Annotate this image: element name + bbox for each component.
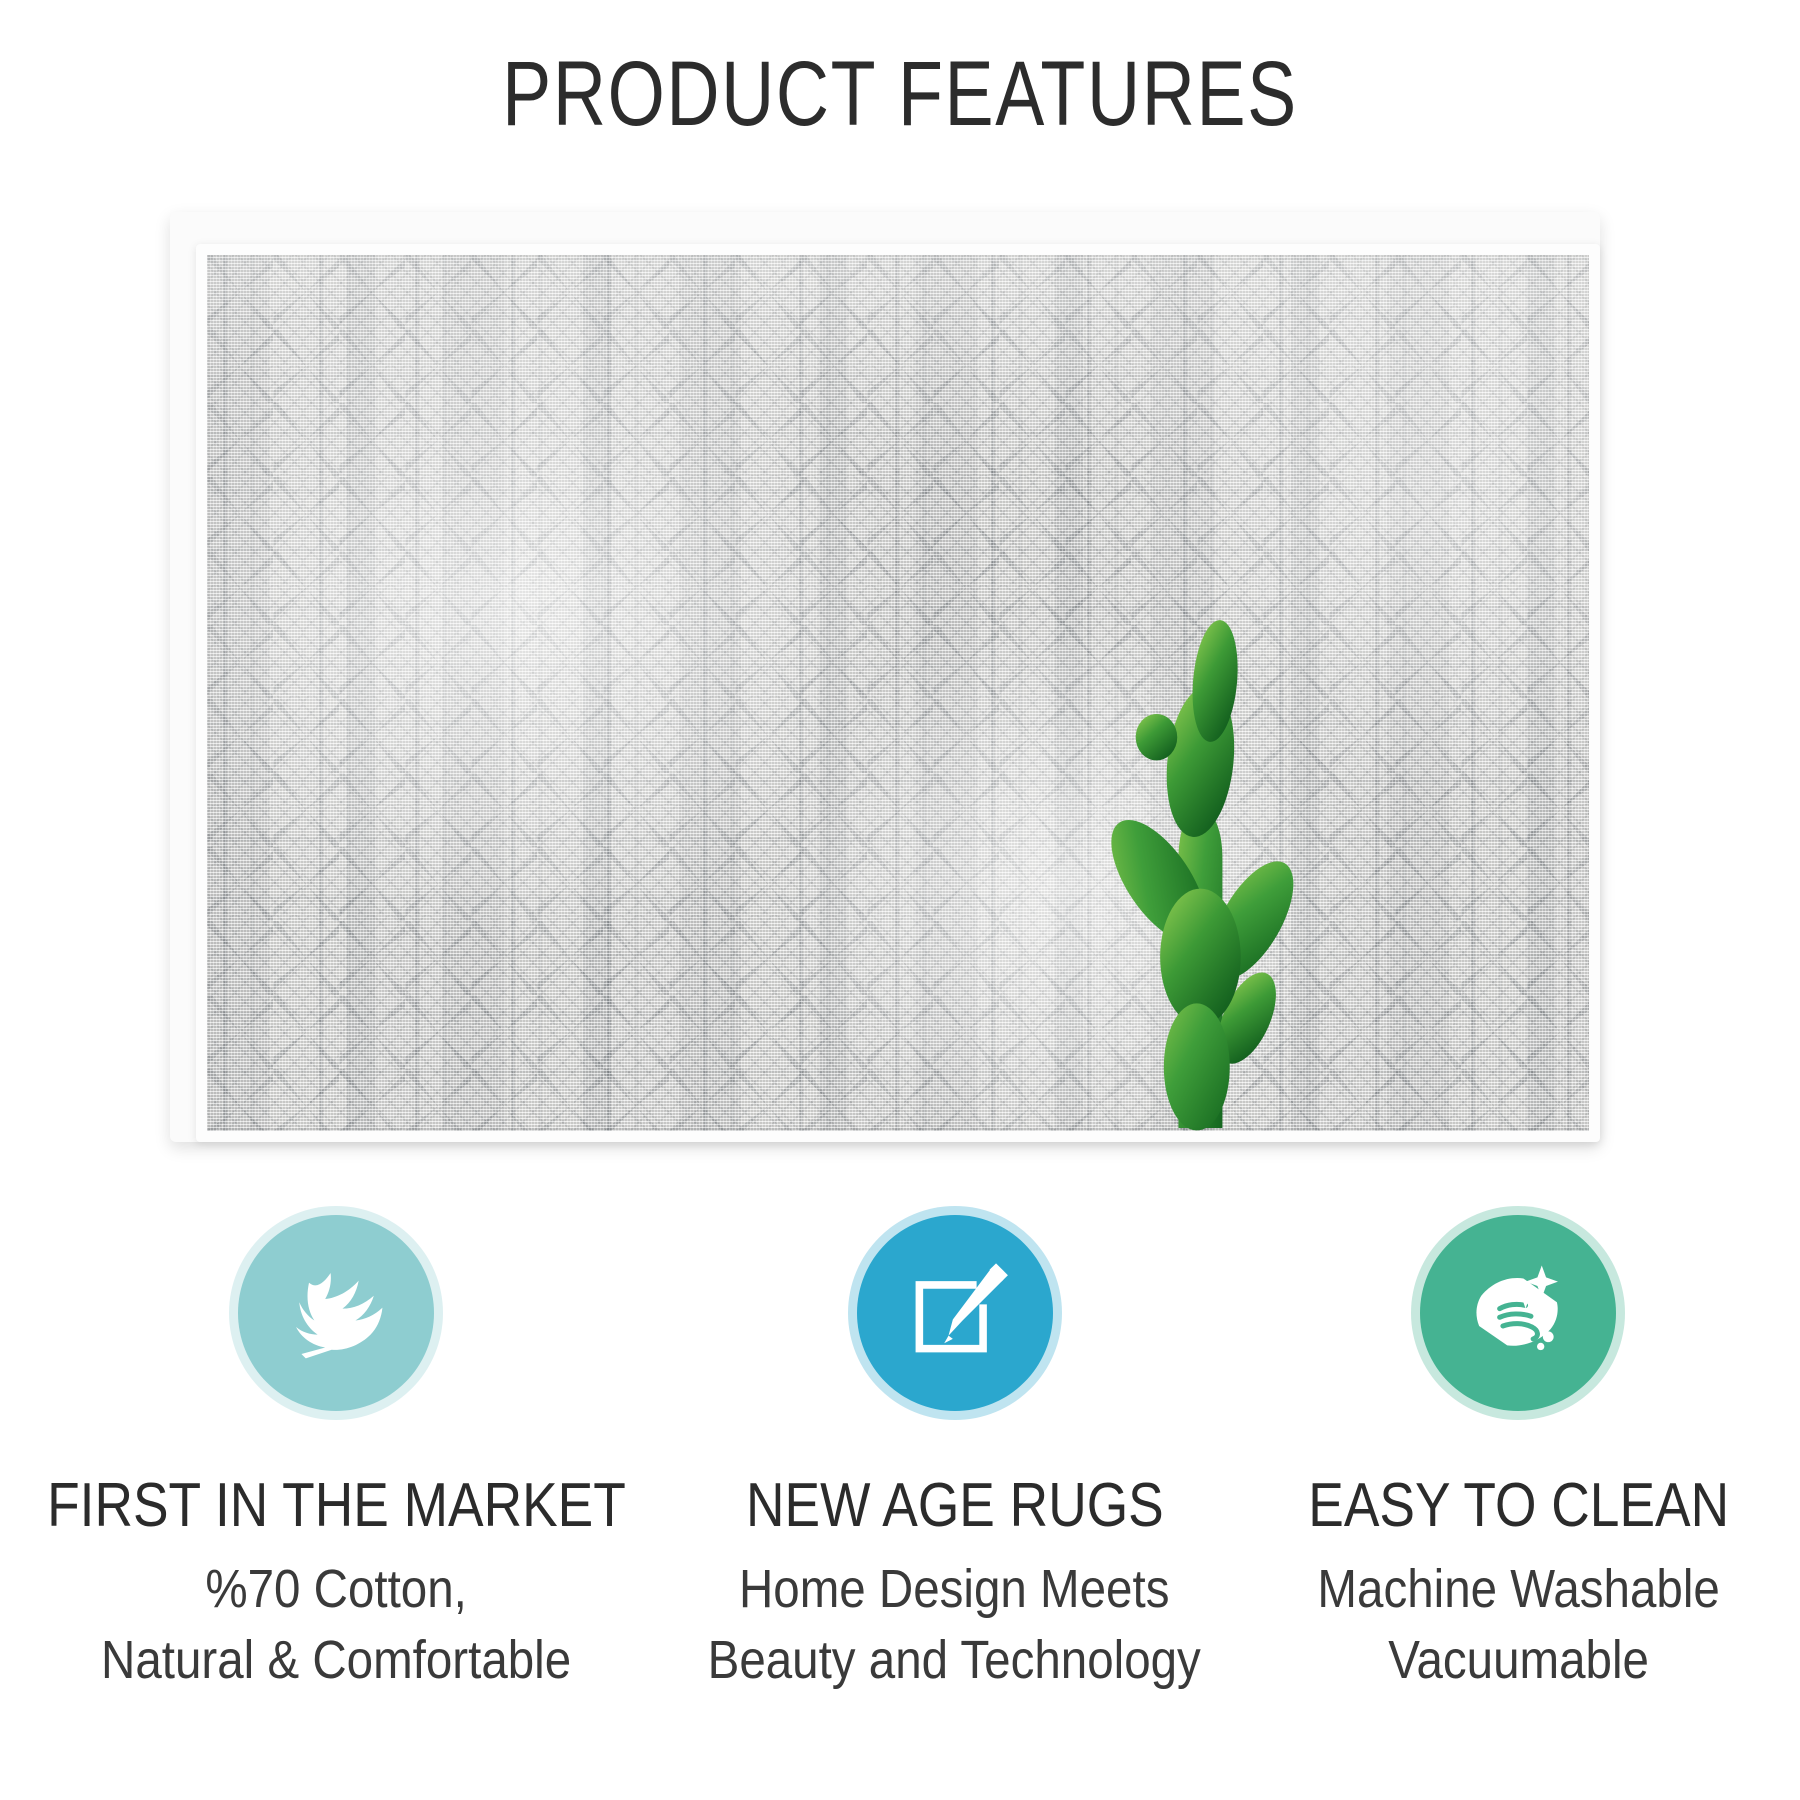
features-row: FIRST IN THE MARKET %70 Cotton, Natural … bbox=[0, 1215, 1800, 1697]
feature-description: Home Design Meets Beauty and Technology bbox=[708, 1554, 1201, 1697]
feature-description: Machine Washable Vacuumable bbox=[1317, 1554, 1719, 1697]
feature-new-age-rugs: NEW AGE RUGS Home Design Meets Beauty an… bbox=[673, 1215, 1237, 1697]
feature-badge-clean bbox=[1420, 1215, 1616, 1411]
feature-first-in-the-market: FIRST IN THE MARKET %70 Cotton, Natural … bbox=[0, 1215, 673, 1697]
feature-description: %70 Cotton, Natural & Comfortable bbox=[101, 1554, 571, 1697]
feature-description-line: %70 Cotton, bbox=[101, 1554, 571, 1625]
feature-badge-feather bbox=[238, 1215, 434, 1411]
feature-description-line: Machine Washable bbox=[1317, 1554, 1719, 1625]
cleaning-hand-sparkle-icon bbox=[1464, 1259, 1572, 1367]
product-image bbox=[170, 212, 1600, 1142]
design-pen-square-icon bbox=[901, 1259, 1009, 1367]
feature-easy-to-clean: EASY TO CLEAN Machine Washable Vacuumabl… bbox=[1236, 1215, 1800, 1697]
feature-description-line: Vacuumable bbox=[1317, 1625, 1719, 1696]
feature-title: NEW AGE RUGS bbox=[746, 1473, 1164, 1538]
feather-icon bbox=[282, 1259, 390, 1367]
feature-description-line: Beauty and Technology bbox=[708, 1625, 1201, 1696]
feature-description-line: Home Design Meets bbox=[708, 1554, 1201, 1625]
feature-title: FIRST IN THE MARKET bbox=[47, 1473, 626, 1538]
feature-badge-design bbox=[857, 1215, 1053, 1411]
feature-title: EASY TO CLEAN bbox=[1308, 1473, 1729, 1538]
page-title: PRODUCT FEATURES bbox=[180, 48, 1620, 140]
cactus-motif bbox=[999, 554, 1392, 1142]
feature-description-line: Natural & Comfortable bbox=[101, 1625, 571, 1696]
rug bbox=[196, 244, 1600, 1142]
